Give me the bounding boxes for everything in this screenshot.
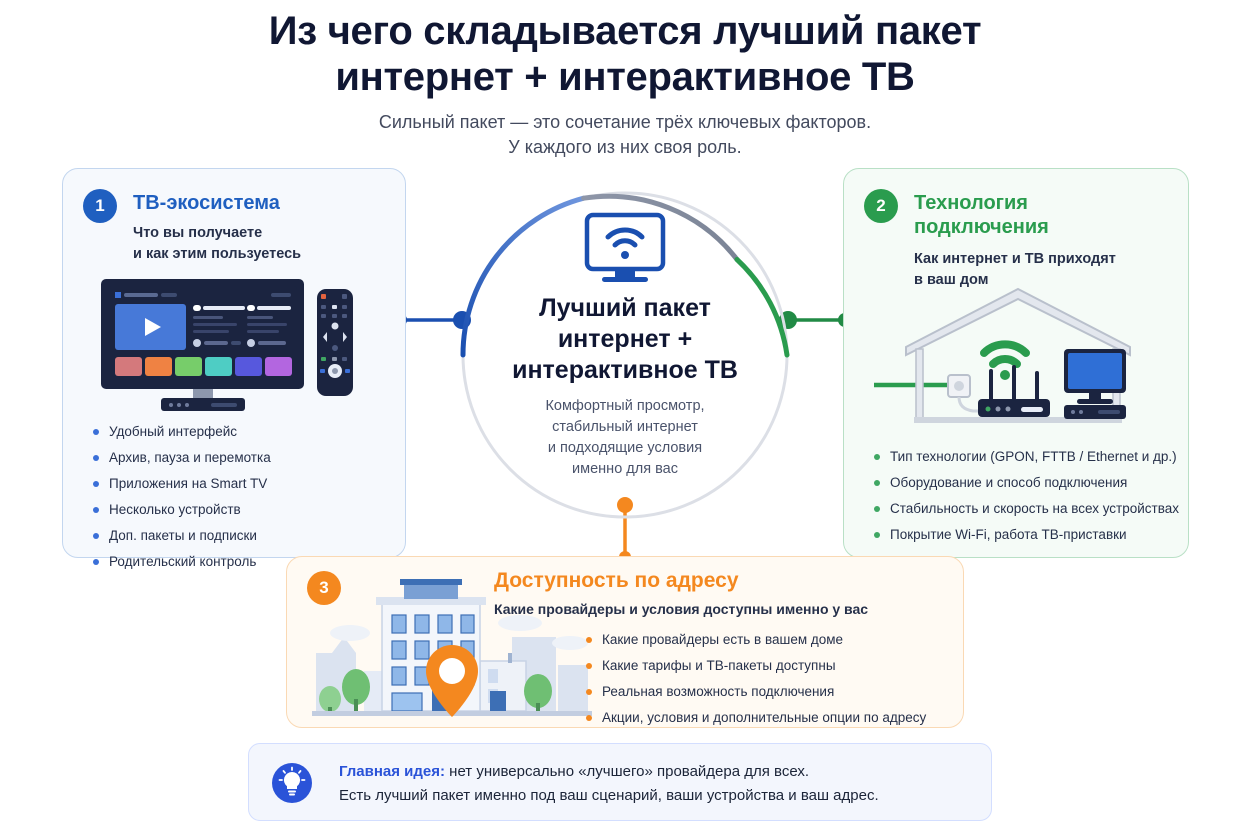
card-1-bullet-list: Удобный интерфейс Архив, пауза и перемот…	[91, 419, 271, 575]
list-item: Реальная возможность подключения	[584, 679, 926, 705]
list-item: Какие тарифы и ТВ-пакеты доступны	[584, 653, 926, 679]
center-description: Комфортный просмотр, стабильный интернет…	[455, 396, 795, 480]
card-tv-ecosystem[interactable]: 1 ТВ-экосистема Что вы получаете и как э…	[62, 168, 406, 558]
key-idea-text: Главная идея: нет универсально «лучшего»…	[339, 760, 879, 808]
page-title-line-1: Из чего складывается лучший пакет	[0, 8, 1250, 54]
list-item: Тип технологии (GPON, FTTB / Ethernet и …	[872, 444, 1179, 470]
list-item: Акции, условия и дополнительные опции по…	[584, 705, 926, 731]
list-item: Родительский контроль	[91, 549, 271, 575]
card-2-title-line-1: Технология	[914, 191, 1154, 215]
card-1-subtitle-line-2: и как этим пользуетесь	[133, 244, 301, 265]
card-2-title: Технология подключения	[914, 191, 1154, 239]
list-item: Стабильность и скорость на всех устройст…	[872, 496, 1179, 522]
center-title-line-2: интернет +	[455, 324, 795, 355]
card-connection-technology[interactable]: 2 Технология подключения Как интернет и …	[843, 168, 1189, 558]
list-item: Оборудование и способ подключения	[872, 470, 1179, 496]
key-idea-lead: Главная идея:	[339, 763, 445, 780]
house-router-tv-illustration	[858, 287, 1174, 425]
list-item: Покрытие Wi-Fi, работа ТВ-приставки	[872, 522, 1179, 548]
card-2-subtitle-line-1: Как интернет и ТВ приходят	[914, 249, 1116, 270]
page-header: Из чего складывается лучший пакет интерн…	[0, 8, 1250, 160]
lightbulb-icon	[272, 763, 312, 803]
center-title-line-1: Лучший пакет	[455, 293, 795, 324]
page-subtitle-line-1: Сильный пакет — это сочетание трёх ключе…	[0, 110, 1250, 135]
city-buildings-map-pin-illustration	[312, 571, 592, 723]
center-desc-line-1: Комфортный просмотр,	[455, 396, 795, 417]
list-item: Удобный интерфейс	[91, 419, 271, 445]
center-title: Лучший пакет интернет + интерактивное ТВ	[455, 293, 795, 386]
center-title-line-3: интерактивное ТВ	[455, 355, 795, 386]
card-1-title: ТВ-экосистема	[133, 191, 280, 215]
list-item: Архив, пауза и перемотка	[91, 445, 271, 471]
center-hub: Лучший пакет интернет + интерактивное ТВ…	[455, 185, 795, 525]
card-3-bullet-list: Какие провайдеры есть в вашем доме Какие…	[584, 627, 926, 731]
center-desc-line-3: и подходящие условия	[455, 438, 795, 459]
list-item: Несколько устройств	[91, 497, 271, 523]
key-idea-line-1: нет универсально «лучшего» провайдера дл…	[445, 763, 809, 780]
page-title: Из чего складывается лучший пакет интерн…	[0, 8, 1250, 100]
tv-wifi-icon	[455, 211, 795, 287]
list-item: Приложения на Smart TV	[91, 471, 271, 497]
list-item: Доп. пакеты и подписки	[91, 523, 271, 549]
card-1-subtitle-line-1: Что вы получаете	[133, 223, 301, 244]
center-desc-line-4: именно для вас	[455, 459, 795, 480]
card-address-availability[interactable]: 3 Доступность по адресу Какие провайдеры…	[286, 556, 964, 728]
key-idea-banner: Главная идея: нет универсально «лучшего»…	[248, 743, 992, 821]
card-2-number-badge: 2	[864, 189, 898, 223]
card-1-subtitle: Что вы получаете и как этим пользуетесь	[133, 223, 301, 265]
key-idea-line-2: Есть лучший пакет именно под ваш сценари…	[339, 784, 879, 808]
page-subtitle-line-2: У каждого из них своя роль.	[0, 135, 1250, 160]
card-2-title-line-2: подключения	[914, 215, 1154, 239]
center-desc-line-2: стабильный интернет	[455, 417, 795, 438]
card-1-number-badge: 1	[83, 189, 117, 223]
page-subtitle: Сильный пакет — это сочетание трёх ключе…	[0, 110, 1250, 160]
card-2-bullet-list: Тип технологии (GPON, FTTB / Ethernet и …	[872, 444, 1179, 548]
smart-tv-with-remote-illustration	[99, 277, 371, 412]
list-item: Какие провайдеры есть в вашем доме	[584, 627, 926, 653]
page-title-line-2: интернет + интерактивное ТВ	[0, 54, 1250, 100]
card-2-subtitle: Как интернет и ТВ приходят в ваш дом	[914, 249, 1116, 291]
